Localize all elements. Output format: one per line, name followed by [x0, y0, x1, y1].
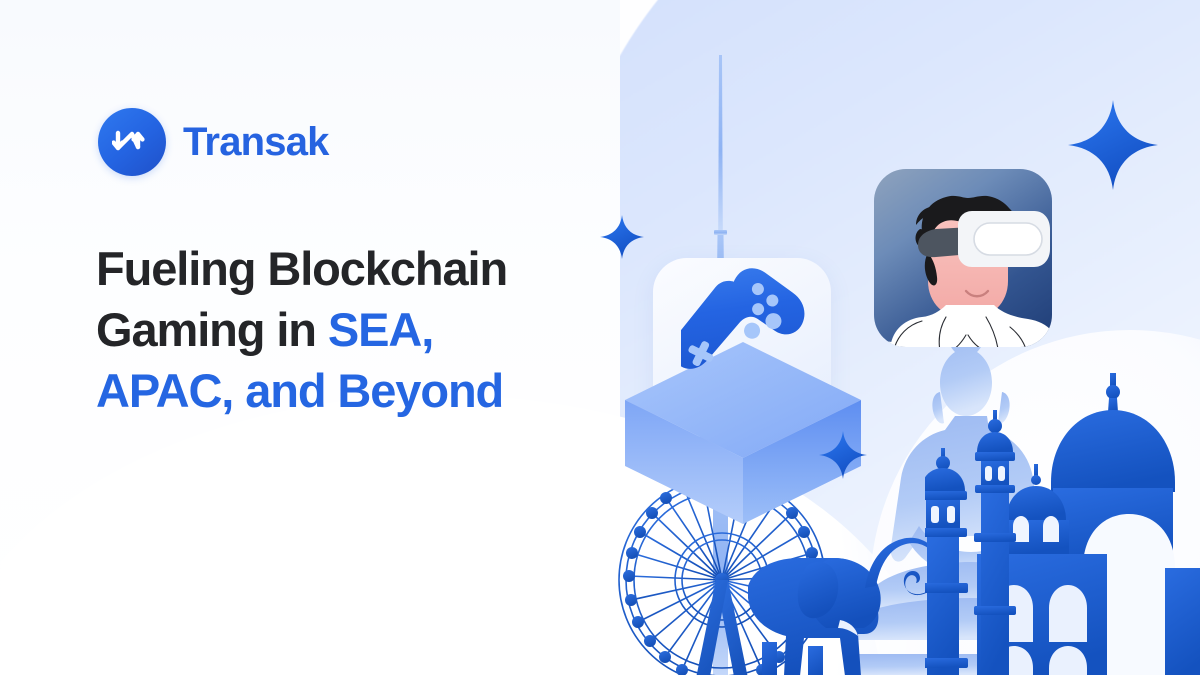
- taj-mahal-icon: [925, 368, 1200, 675]
- headline-line-3-accent: APAC, and Beyond: [96, 364, 503, 417]
- sparkle-small-icon: [819, 431, 867, 484]
- headline-line-2-plain: Gaming in: [96, 303, 328, 356]
- brand-logo[interactable]: Transak: [98, 108, 329, 176]
- brand-wordmark: Transak: [183, 122, 329, 162]
- sparkle-large-icon: [1068, 100, 1158, 195]
- page-title: Fueling Blockchain Gaming in SEA, APAC, …: [96, 238, 616, 421]
- headline-line-2-accent: SEA,: [328, 303, 433, 356]
- transak-swap-arrows-icon: [98, 108, 166, 176]
- vr-person-illustration: [874, 187, 1052, 347]
- gamepad-icon: [681, 268, 811, 438]
- vr-card-clip: [874, 169, 1052, 347]
- elephant-icon: [748, 520, 953, 675]
- gamepad-card: [653, 258, 831, 436]
- content-column: Transak Fueling Blockchain Gaming in SEA…: [0, 0, 620, 675]
- headline-line-1: Fueling Blockchain: [96, 242, 507, 295]
- vr-headset-card: [874, 169, 1052, 347]
- promo-banner: Transak Fueling Blockchain Gaming in SEA…: [0, 0, 1200, 675]
